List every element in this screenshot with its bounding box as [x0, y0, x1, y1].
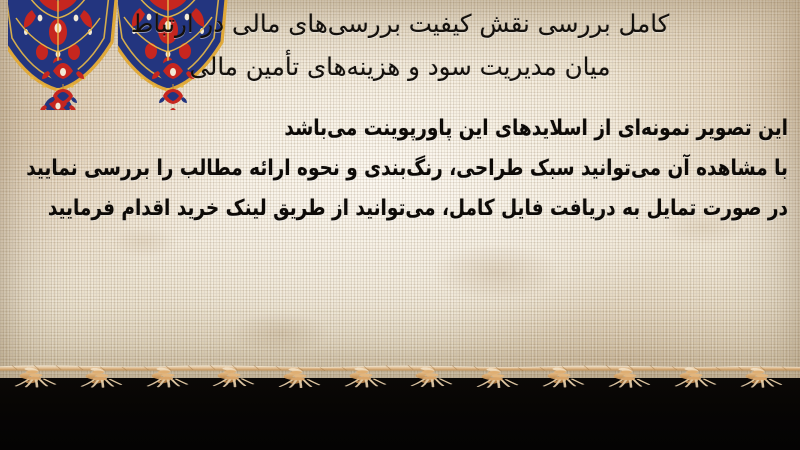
body-text: این تصویر نمونه‌ای از اسلایدهای این پاور…	[10, 112, 788, 226]
body-line-2: با مشاهده آن می‌توانید سبک طراحی، رنگ‌بن…	[134, 152, 788, 186]
body-line-1: این تصویر نمونه‌ای از اسلایدهای این پاور…	[134, 112, 788, 146]
title-line-1: کامل بررسی نقش کیفیت بررسی‌های مالی در ا…	[10, 2, 790, 45]
slide-canvas: کامل بررسی نقش کیفیت بررسی‌های مالی در ا…	[0, 0, 800, 450]
tassel-group	[16, 369, 781, 388]
carpet-fringe	[0, 352, 800, 450]
fringe-black-band	[0, 378, 800, 450]
fringe-selvedge-icon	[0, 362, 800, 388]
title-line-2: میان مدیریت سود و هزینه‌های تأمین مالی	[10, 45, 790, 88]
body-line-3: در صورت تمایل به دریافت فایل کامل، می‌تو…	[134, 192, 788, 226]
text-layer: کامل بررسی نقش کیفیت بررسی‌های مالی در ا…	[0, 0, 800, 378]
page-title: کامل بررسی نقش کیفیت بررسی‌های مالی در ا…	[10, 2, 790, 88]
